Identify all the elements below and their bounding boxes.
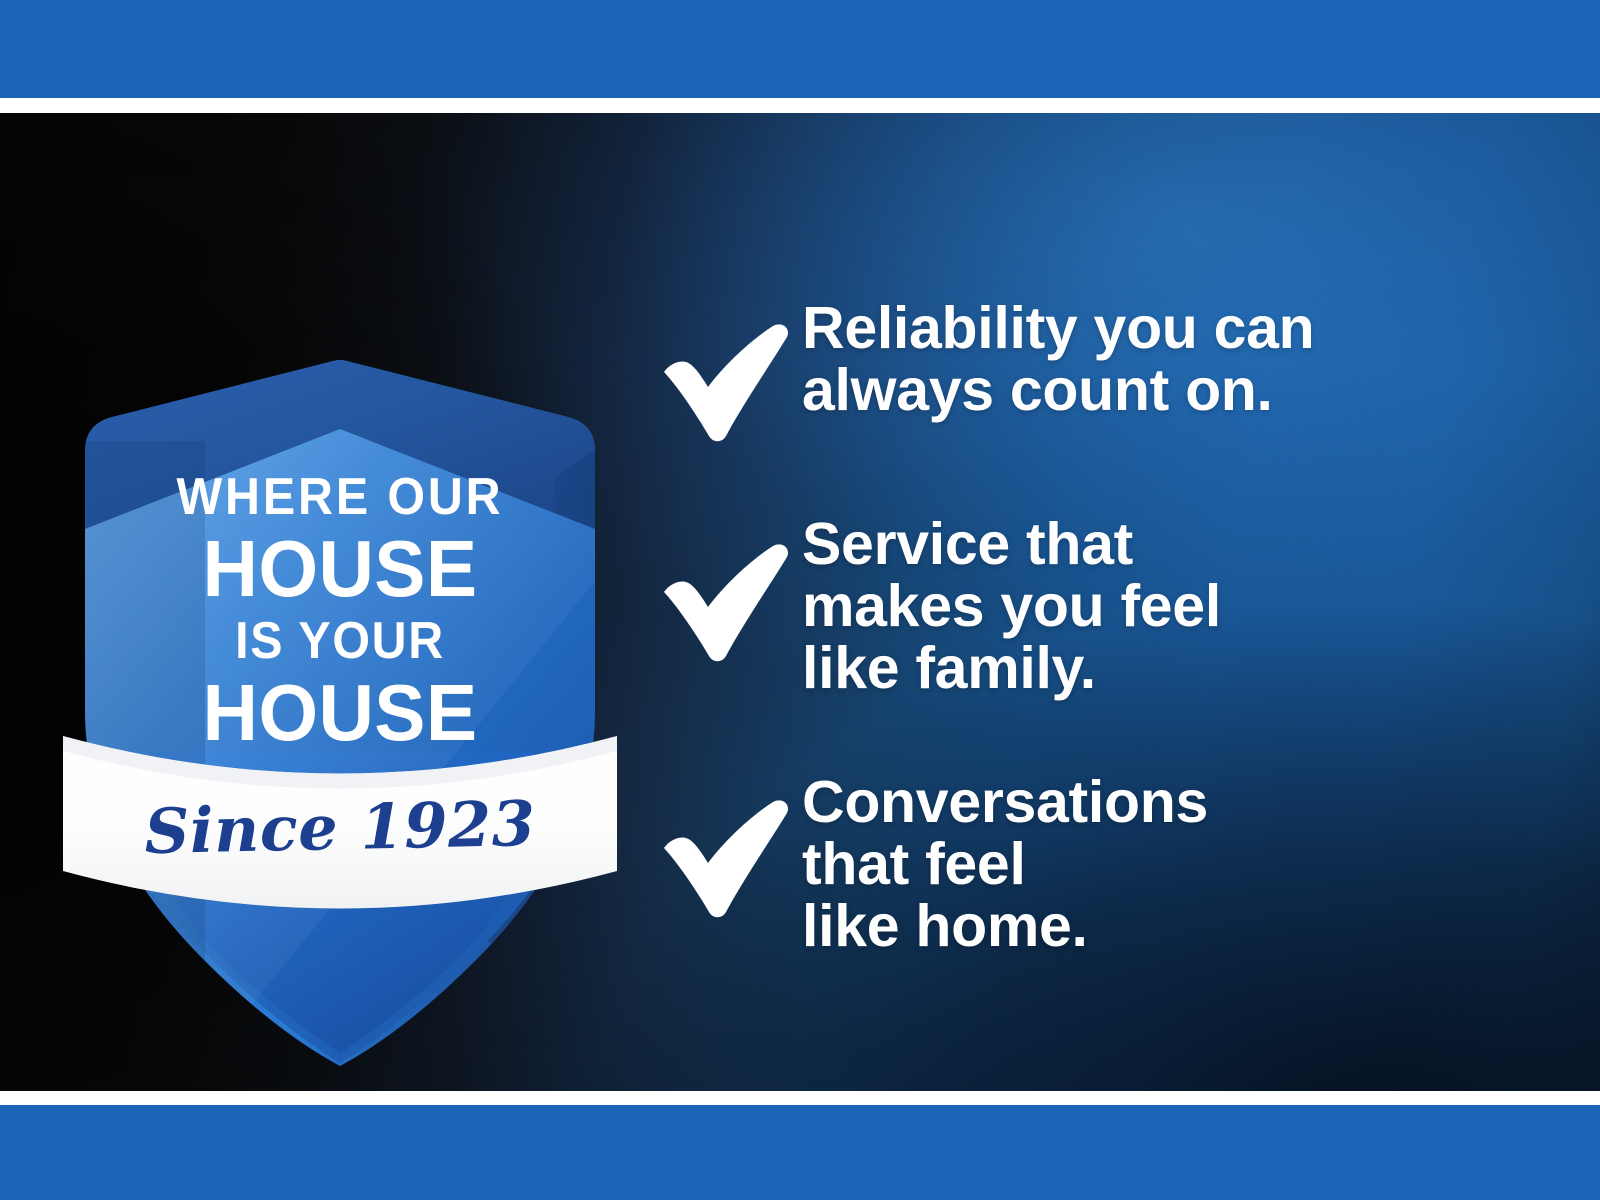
value-points-list: Reliability you can always count on. Ser… (660, 298, 1560, 958)
value-point-text: Service that makes you feel like family. (802, 514, 1560, 700)
value-point-text: Conversations that feel like home. (802, 772, 1560, 958)
bottom-white-divider (0, 1091, 1600, 1105)
checkmark-icon (660, 298, 802, 442)
value-point: Service that makes you feel like family. (660, 514, 1560, 700)
shield-emblem: WHERE OUR HOUSE IS YOUR HOUSE Since 1923 (55, 281, 625, 941)
value-point-text: Reliability you can always count on. (802, 298, 1560, 422)
top-brand-bar (0, 0, 1600, 98)
value-point: Conversations that feel like home. (660, 772, 1560, 958)
top-white-divider (0, 98, 1600, 113)
checkmark-icon (660, 514, 802, 662)
bottom-brand-bar (0, 1105, 1600, 1200)
value-point: Reliability you can always count on. (660, 298, 1560, 442)
poster-stage: WHERE OUR HOUSE IS YOUR HOUSE Since 1923… (0, 113, 1600, 1091)
promotional-poster: WHERE OUR HOUSE IS YOUR HOUSE Since 1923… (0, 0, 1600, 1200)
checkmark-icon (660, 772, 802, 918)
